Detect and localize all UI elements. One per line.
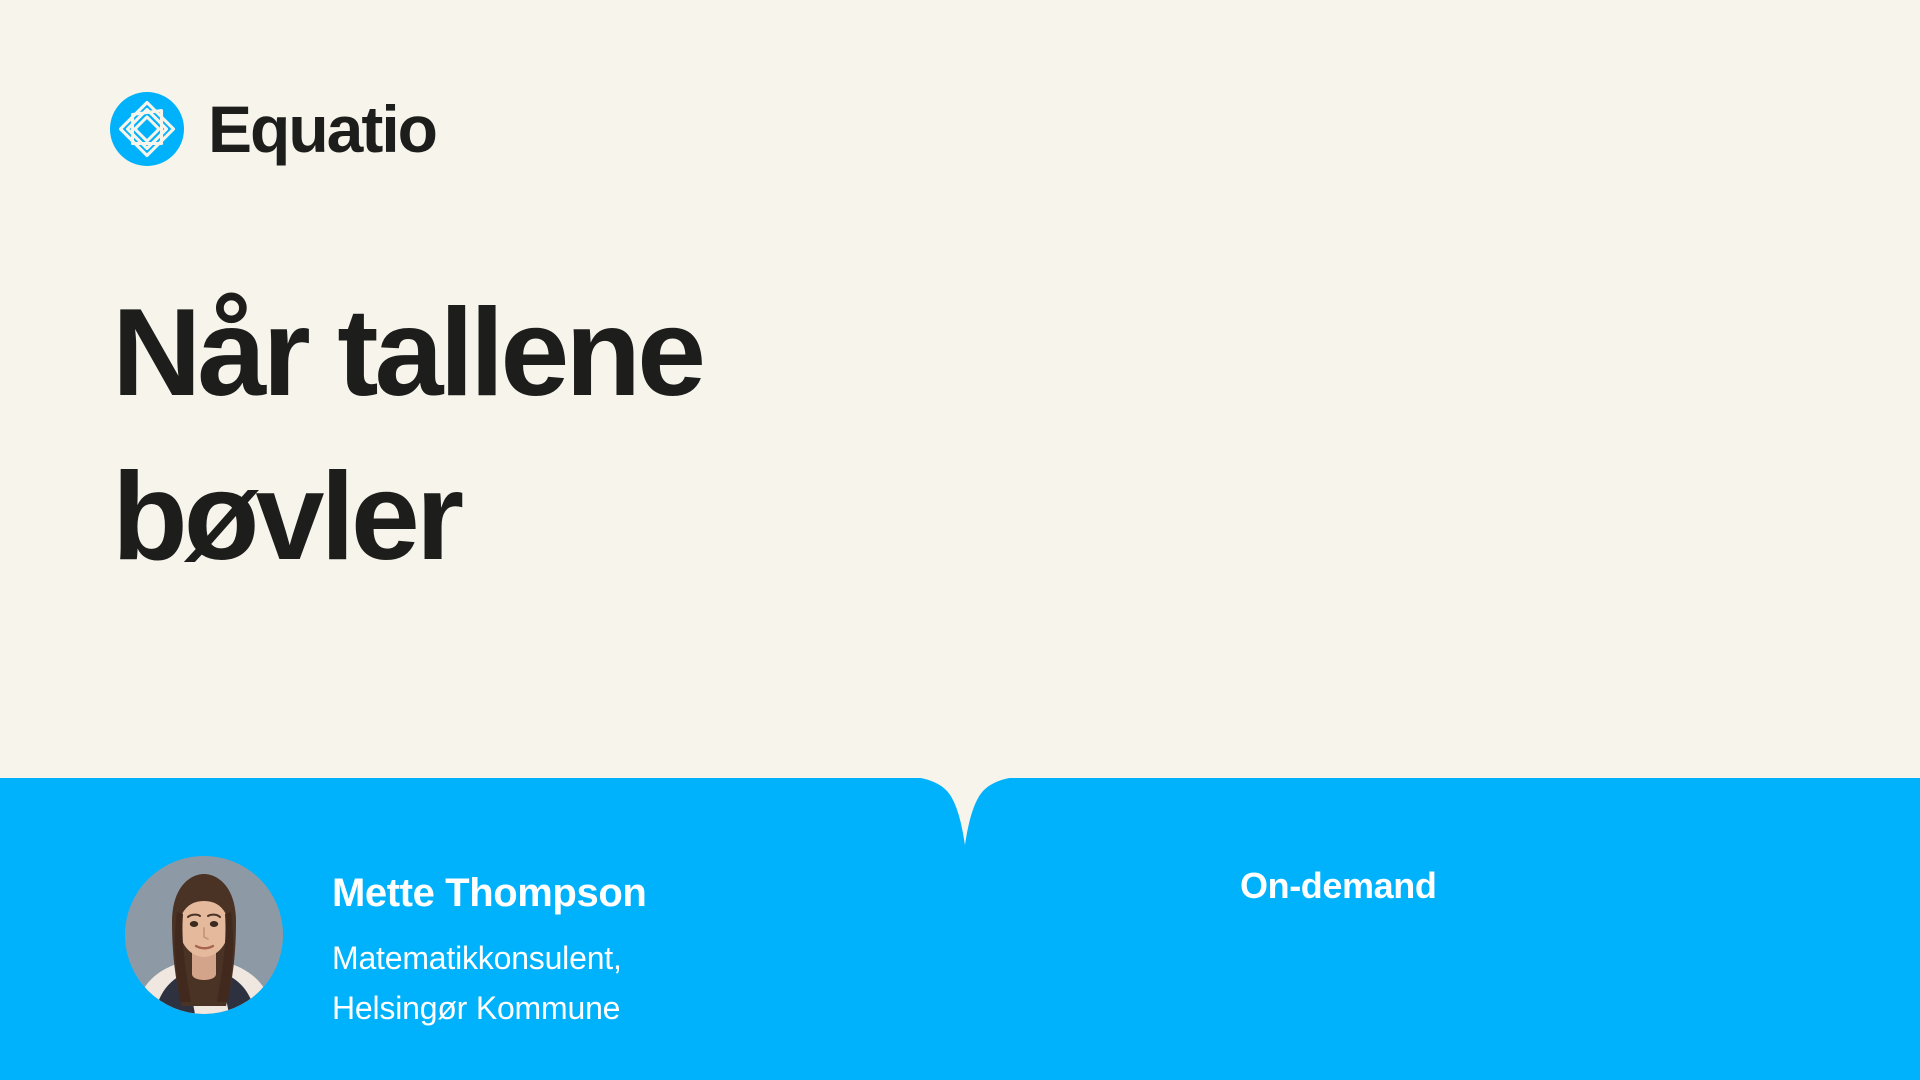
band-content: Mette Thompson Matematikkonsulent, Helsi… — [0, 778, 1920, 1080]
speaker-role-line-1: Matematikkonsulent, — [332, 934, 646, 984]
hero-section: Equatio Når tallene bøvler — [0, 0, 1920, 778]
speaker-details: Mette Thompson Matematikkonsulent, Helsi… — [332, 856, 646, 1033]
page-title: Når tallene bøvler — [112, 272, 1212, 599]
avatar — [125, 856, 283, 1014]
availability-badge: On-demand — [1240, 865, 1436, 907]
headline-line-2: bøvler — [112, 436, 1212, 600]
speaker-role-line-2: Helsingør Kommune — [332, 984, 646, 1034]
speaker-block: Mette Thompson Matematikkonsulent, Helsi… — [125, 856, 646, 1033]
brand-logo[interactable]: Equatio — [110, 92, 436, 166]
speaker-name: Mette Thompson — [332, 868, 646, 918]
headline-line-1: Når tallene — [112, 272, 1212, 436]
speaker-band: Mette Thompson Matematikkonsulent, Helsi… — [0, 778, 1920, 1080]
speaker-role: Matematikkonsulent, Helsingør Kommune — [332, 934, 646, 1033]
brand-name: Equatio — [208, 96, 436, 162]
equatio-logo-icon — [110, 92, 184, 166]
